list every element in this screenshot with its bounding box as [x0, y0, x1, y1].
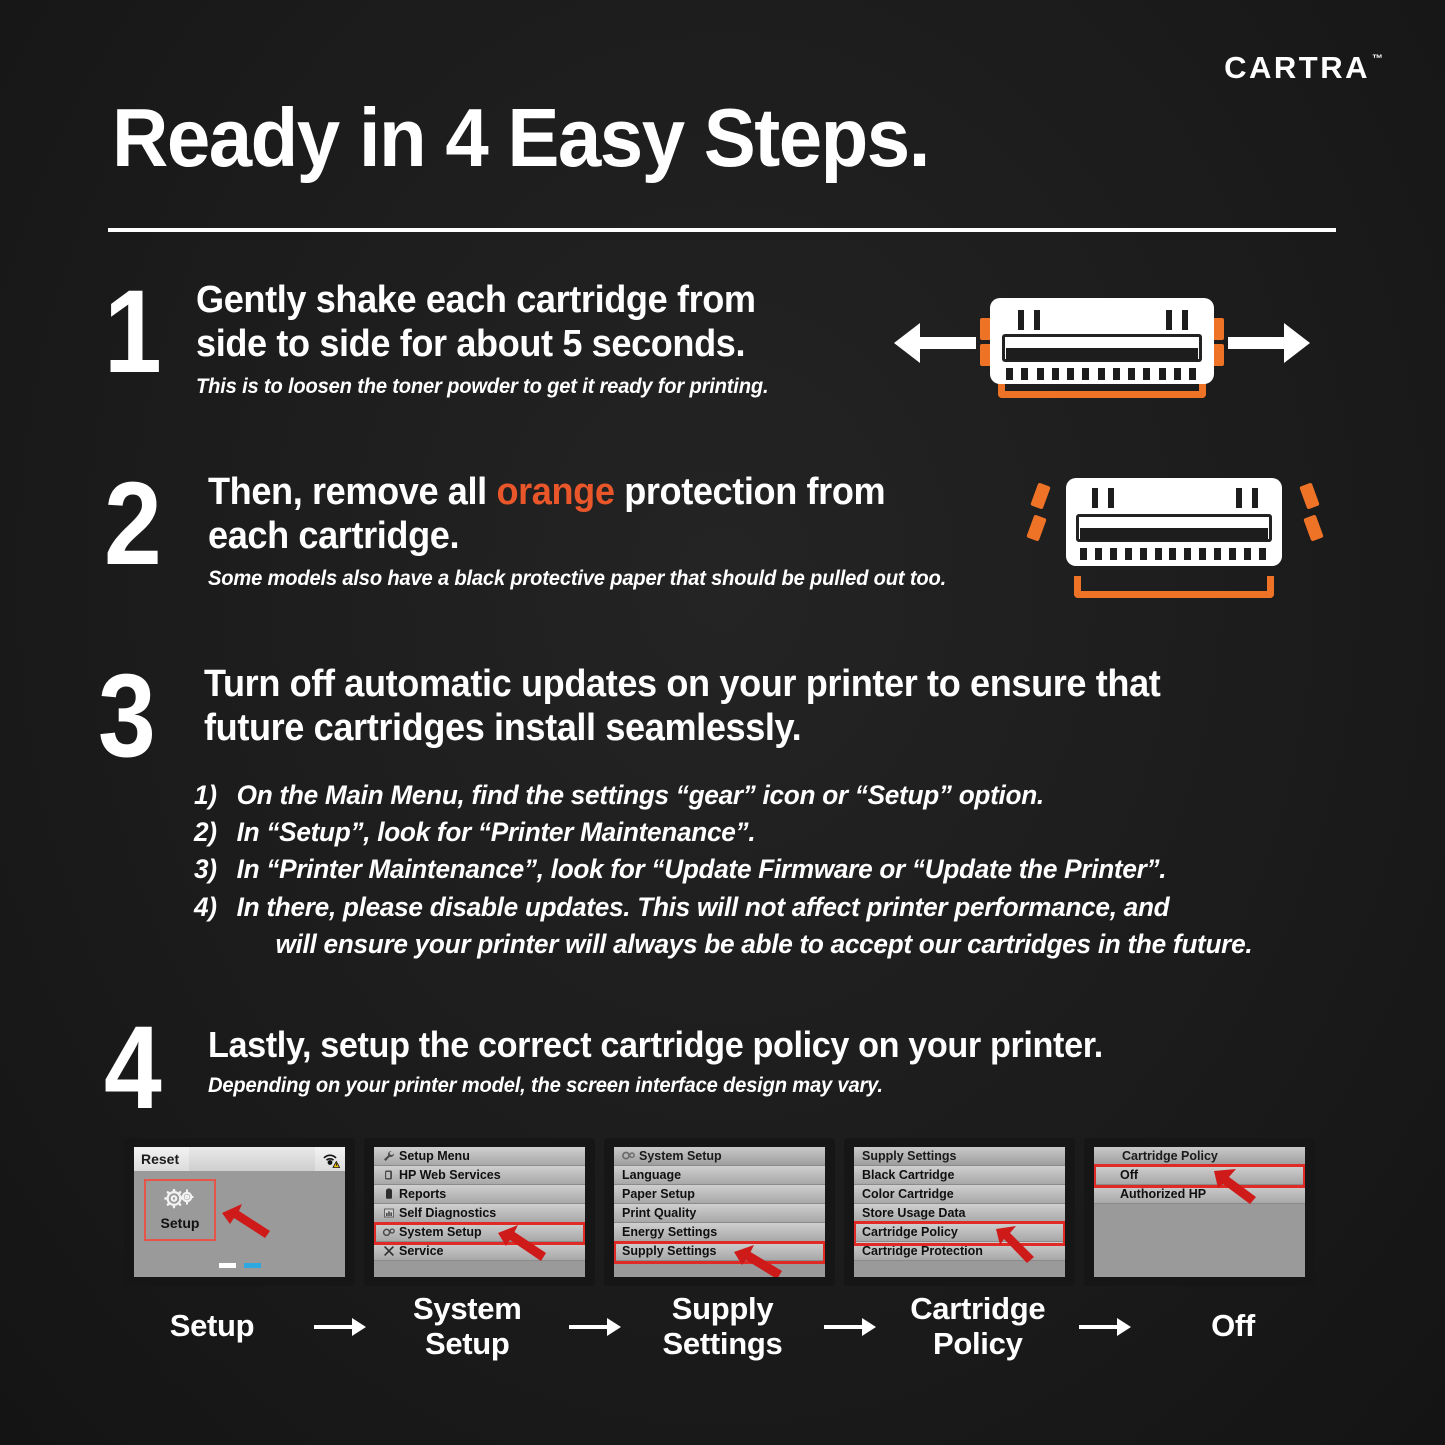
sublist-item: 3) In “Printer Maintenance”, look for “U…	[194, 851, 1323, 888]
step-3-sublist: 1) On the Main Menu, find the settings “…	[194, 777, 1323, 963]
menu-item-system-setup[interactable]: System Setup	[374, 1223, 585, 1242]
panel-cartridge-policy: Cartridge Policy Off Authorized HP	[1084, 1138, 1315, 1286]
step-4-subtext: Depending on your printer model, the scr…	[208, 1073, 1241, 1098]
step-4: 4 Lastly, setup the correct cartridge po…	[104, 1016, 1284, 1098]
sublist-text: In there, please disable updates. This w…	[237, 889, 1323, 964]
printer-screen-panels: Reset	[124, 1138, 1315, 1286]
flow-label-off: Off	[1145, 1309, 1321, 1344]
menu-item-label: System Setup	[399, 1225, 482, 1239]
menu-item-label: Setup Menu	[399, 1149, 470, 1163]
menu-item-black-cartridge[interactable]: Black Cartridge	[854, 1166, 1065, 1185]
menu-item-supply-settings[interactable]: Supply Settings	[614, 1242, 825, 1261]
menu-item-paper-setup[interactable]: Paper Setup	[614, 1185, 825, 1204]
step-2-heading-line2: each cartridge.	[208, 514, 1002, 558]
menu-item-label: Reports	[399, 1187, 446, 1201]
menu-item-label: Color Cartridge	[862, 1187, 954, 1201]
sublist-marker: 4)	[194, 889, 237, 926]
report-icon	[379, 1188, 399, 1200]
menu-item-label: Language	[622, 1168, 681, 1182]
flow-label-cartridge-policy: CartridgePolicy	[890, 1292, 1066, 1361]
step-1: 1 Gently shake each cartridge from side …	[104, 278, 924, 399]
cartridge-teeth	[1080, 548, 1266, 560]
flow-arrow-1	[310, 1314, 370, 1340]
step-3-heading: Turn off automatic updates on your print…	[204, 662, 1300, 751]
menu-item-service[interactable]: Service	[374, 1242, 585, 1261]
menu-item-label: Off	[1120, 1168, 1138, 1182]
orange-piece-right-top	[1299, 483, 1319, 510]
step-1-number: 1	[104, 282, 162, 382]
menu-item-label: Paper Setup	[622, 1187, 695, 1201]
cartridge-policy-list: Cartridge Policy Off Authorized HP	[1094, 1147, 1305, 1204]
panel-setup-menu: Setup Menu HP Web Services Reports	[364, 1138, 595, 1286]
cartridge-pin-1	[1018, 310, 1024, 330]
sublist-text-line2: will ensure your printer will always be …	[237, 926, 1323, 963]
menu-header-cartridge-policy: Cartridge Policy	[1094, 1147, 1305, 1166]
flow-arrow-3	[820, 1314, 880, 1340]
menu-item-self-diagnostics[interactable]: Self Diagnostics	[374, 1204, 585, 1223]
step-1-illustration	[886, 284, 1318, 404]
step-1-heading-line1: Gently shake each cartridge from	[196, 278, 888, 322]
menu-item-label: Self Diagnostics	[399, 1206, 496, 1220]
flow-label-supply-settings: SupplySettings	[635, 1292, 811, 1361]
supply-settings-list: Supply Settings Black Cartridge Color Ca…	[854, 1147, 1065, 1261]
flow-label-text: SupplySettings	[663, 1291, 783, 1361]
orange-piece-left-bottom	[1026, 515, 1046, 542]
step-1-heading-line2: side to side for about 5 seconds.	[196, 322, 888, 366]
arrow-right-icon	[1226, 320, 1318, 366]
cartridge-pin-2	[1034, 310, 1040, 330]
panel-home-screen: Reset	[124, 1138, 355, 1286]
menu-header-supply-settings: Supply Settings	[854, 1147, 1065, 1166]
step-2-subtext: Some models also have a black protective…	[208, 566, 1011, 591]
cartridge-pin-3	[1236, 488, 1242, 508]
flow-arrow-2	[565, 1314, 625, 1340]
menu-item-cartridge-protection[interactable]: Cartridge Protection	[854, 1242, 1065, 1261]
step-2-heading-highlight: orange	[496, 471, 614, 513]
menu-header-label: Cartridge Policy	[1122, 1149, 1218, 1163]
system-setup-list: System Setup Language Paper Setup Print …	[614, 1147, 825, 1261]
step-1-heading: Gently shake each cartridge from side to…	[196, 278, 888, 367]
orange-strip-removed	[1074, 576, 1274, 598]
panel-supply-settings: Supply Settings Black Cartridge Color Ca…	[844, 1138, 1075, 1286]
menu-item-label: Energy Settings	[622, 1225, 717, 1239]
step-3: 3 Turn off automatic updates on your pri…	[98, 662, 1358, 963]
title-divider	[108, 228, 1336, 232]
orange-piece-right-bottom	[1303, 515, 1323, 542]
setup-tile-label: Setup	[161, 1215, 200, 1231]
menu-item-language[interactable]: Language	[614, 1166, 825, 1185]
panel-supply-settings-display: Supply Settings Black Cartridge Color Ca…	[854, 1147, 1065, 1277]
flow-labels: Setup SystemSetup SupplySettings Cartrid…	[124, 1292, 1321, 1361]
wrench-icon	[379, 1150, 399, 1162]
menu-item-print-quality[interactable]: Print Quality	[614, 1204, 825, 1223]
step-2-heading-pre: Then, remove all	[208, 471, 496, 513]
flow-label-system-setup: SystemSetup	[379, 1292, 555, 1361]
flow-label-text: Off	[1211, 1308, 1255, 1343]
sublist-marker: 3)	[194, 851, 237, 888]
pointer-arrow-icon	[220, 1199, 272, 1239]
step-4-heading: Lastly, setup the correct cartridge poli…	[208, 1024, 1230, 1066]
step-3-heading-line2: future cartridges install seamlessly.	[204, 706, 1300, 750]
flow-arrow-4	[1075, 1314, 1135, 1340]
step-3-heading-line1: Turn off automatic updates on your print…	[204, 662, 1300, 706]
panel-cartridge-policy-display: Cartridge Policy Off Authorized HP	[1094, 1147, 1305, 1277]
infographic-page: CARTRA ™ Ready in 4 Easy Steps. 1 Gently…	[0, 0, 1445, 1445]
menu-item-label: HP Web Services	[399, 1168, 501, 1182]
menu-item-label: Service	[399, 1244, 443, 1258]
menu-item-off[interactable]: Off	[1094, 1166, 1305, 1185]
panel-home-display: Reset	[134, 1147, 345, 1277]
menu-item-cartridge-policy[interactable]: Cartridge Policy	[854, 1223, 1065, 1242]
panel-setup-menu-display: Setup Menu HP Web Services Reports	[374, 1147, 585, 1277]
menu-header-system-setup: System Setup	[614, 1147, 825, 1166]
step-2-number: 2	[104, 474, 162, 574]
menu-item-authorized-hp[interactable]: Authorized HP	[1094, 1185, 1305, 1204]
cartridge-drum-bar	[1006, 348, 1198, 360]
menu-item-label: Cartridge Policy	[862, 1225, 958, 1239]
menu-item-label: Black Cartridge	[862, 1168, 954, 1182]
menu-item-label: Store Usage Data	[862, 1206, 966, 1220]
web-icon	[379, 1169, 399, 1181]
cartridge-drum-bar	[1080, 528, 1268, 540]
brand-name: CARTRA	[1224, 52, 1370, 83]
setup-tile[interactable]: Setup	[144, 1179, 216, 1241]
cartridge-pin-3	[1166, 310, 1172, 330]
gears-icon	[162, 1189, 198, 1213]
menu-header-label: Supply Settings	[862, 1149, 956, 1163]
flow-label-text: Setup	[170, 1308, 255, 1343]
gears-icon	[619, 1150, 639, 1162]
menu-item-energy-settings[interactable]: Energy Settings	[614, 1223, 825, 1242]
home-top-bar: Reset	[134, 1147, 345, 1171]
step-2-illustration	[1010, 466, 1340, 606]
wireless-warning-icon[interactable]	[315, 1147, 345, 1171]
flow-label-setup: Setup	[124, 1309, 300, 1344]
menu-item-label: Authorized HP	[1120, 1187, 1206, 1201]
menu-item-store-usage-data[interactable]: Store Usage Data	[854, 1204, 1065, 1223]
chart-icon	[379, 1207, 399, 1219]
flow-label-text: CartridgePolicy	[910, 1291, 1045, 1361]
cartridge-pin-4	[1182, 310, 1188, 330]
sublist-item: 4) In there, please disable updates. Thi…	[194, 889, 1323, 964]
menu-header-label: System Setup	[639, 1149, 722, 1163]
panel-system-setup: System Setup Language Paper Setup Print …	[604, 1138, 835, 1286]
cartridge-pin-1	[1092, 488, 1098, 508]
orange-piece-left-top	[1030, 483, 1050, 510]
cartridge-pin-4	[1252, 488, 1258, 508]
sublist-marker: 2)	[194, 814, 237, 851]
sublist-text: On the Main Menu, find the settings “gea…	[237, 777, 1323, 814]
menu-item-reports[interactable]: Reports	[374, 1185, 585, 1204]
gears-icon	[379, 1226, 399, 1238]
sublist-marker: 1)	[194, 777, 237, 814]
sublist-text-line1: In there, please disable updates. This w…	[237, 892, 1170, 922]
step-2: 2 Then, remove all orange protection fro…	[104, 470, 1044, 591]
menu-item-label: Cartridge Protection	[862, 1244, 983, 1258]
cartridge-teeth	[1006, 368, 1196, 380]
brand-logo: CARTRA ™	[1224, 52, 1383, 83]
sublist-item: 2) In “Setup”, look for “Printer Mainten…	[194, 814, 1323, 851]
setup-menu-list: Setup Menu HP Web Services Reports	[374, 1147, 585, 1261]
menu-item-color-cartridge[interactable]: Color Cartridge	[854, 1185, 1065, 1204]
step-3-number: 3	[98, 666, 156, 766]
flow-label-text: SystemSetup	[413, 1291, 522, 1361]
step-2-heading-post: protection from	[615, 471, 886, 513]
menu-item-label: Supply Settings	[622, 1244, 716, 1258]
tools-icon	[379, 1245, 399, 1257]
step-2-heading: Then, remove all orange protection from …	[208, 470, 1002, 559]
step-1-subtext: This is to loosen the toner powder to ge…	[196, 374, 895, 399]
cartridge-pin-2	[1108, 488, 1114, 508]
page-dot-2[interactable]	[244, 1263, 261, 1268]
page-title: Ready in 4 Easy Steps.	[112, 96, 929, 179]
sublist-text: In “Setup”, look for “Printer Maintenanc…	[237, 814, 1323, 851]
panel-system-setup-display: System Setup Language Paper Setup Print …	[614, 1147, 825, 1277]
menu-item-hp-web-services[interactable]: HP Web Services	[374, 1166, 585, 1185]
page-dot-1[interactable]	[219, 1263, 236, 1268]
sublist-item: 1) On the Main Menu, find the settings “…	[194, 777, 1323, 814]
arrow-left-icon	[886, 320, 978, 366]
reset-button[interactable]: Reset	[134, 1147, 189, 1171]
step-2-heading-line1: Then, remove all orange protection from	[208, 470, 1002, 514]
menu-item-setup-menu[interactable]: Setup Menu	[374, 1147, 585, 1166]
trademark-symbol: ™	[1372, 53, 1383, 65]
page-indicator-dots	[134, 1263, 345, 1268]
sublist-text: In “Printer Maintenance”, look for “Upda…	[237, 851, 1323, 888]
menu-item-label: Print Quality	[622, 1206, 696, 1220]
step-4-number: 4	[104, 1018, 162, 1118]
